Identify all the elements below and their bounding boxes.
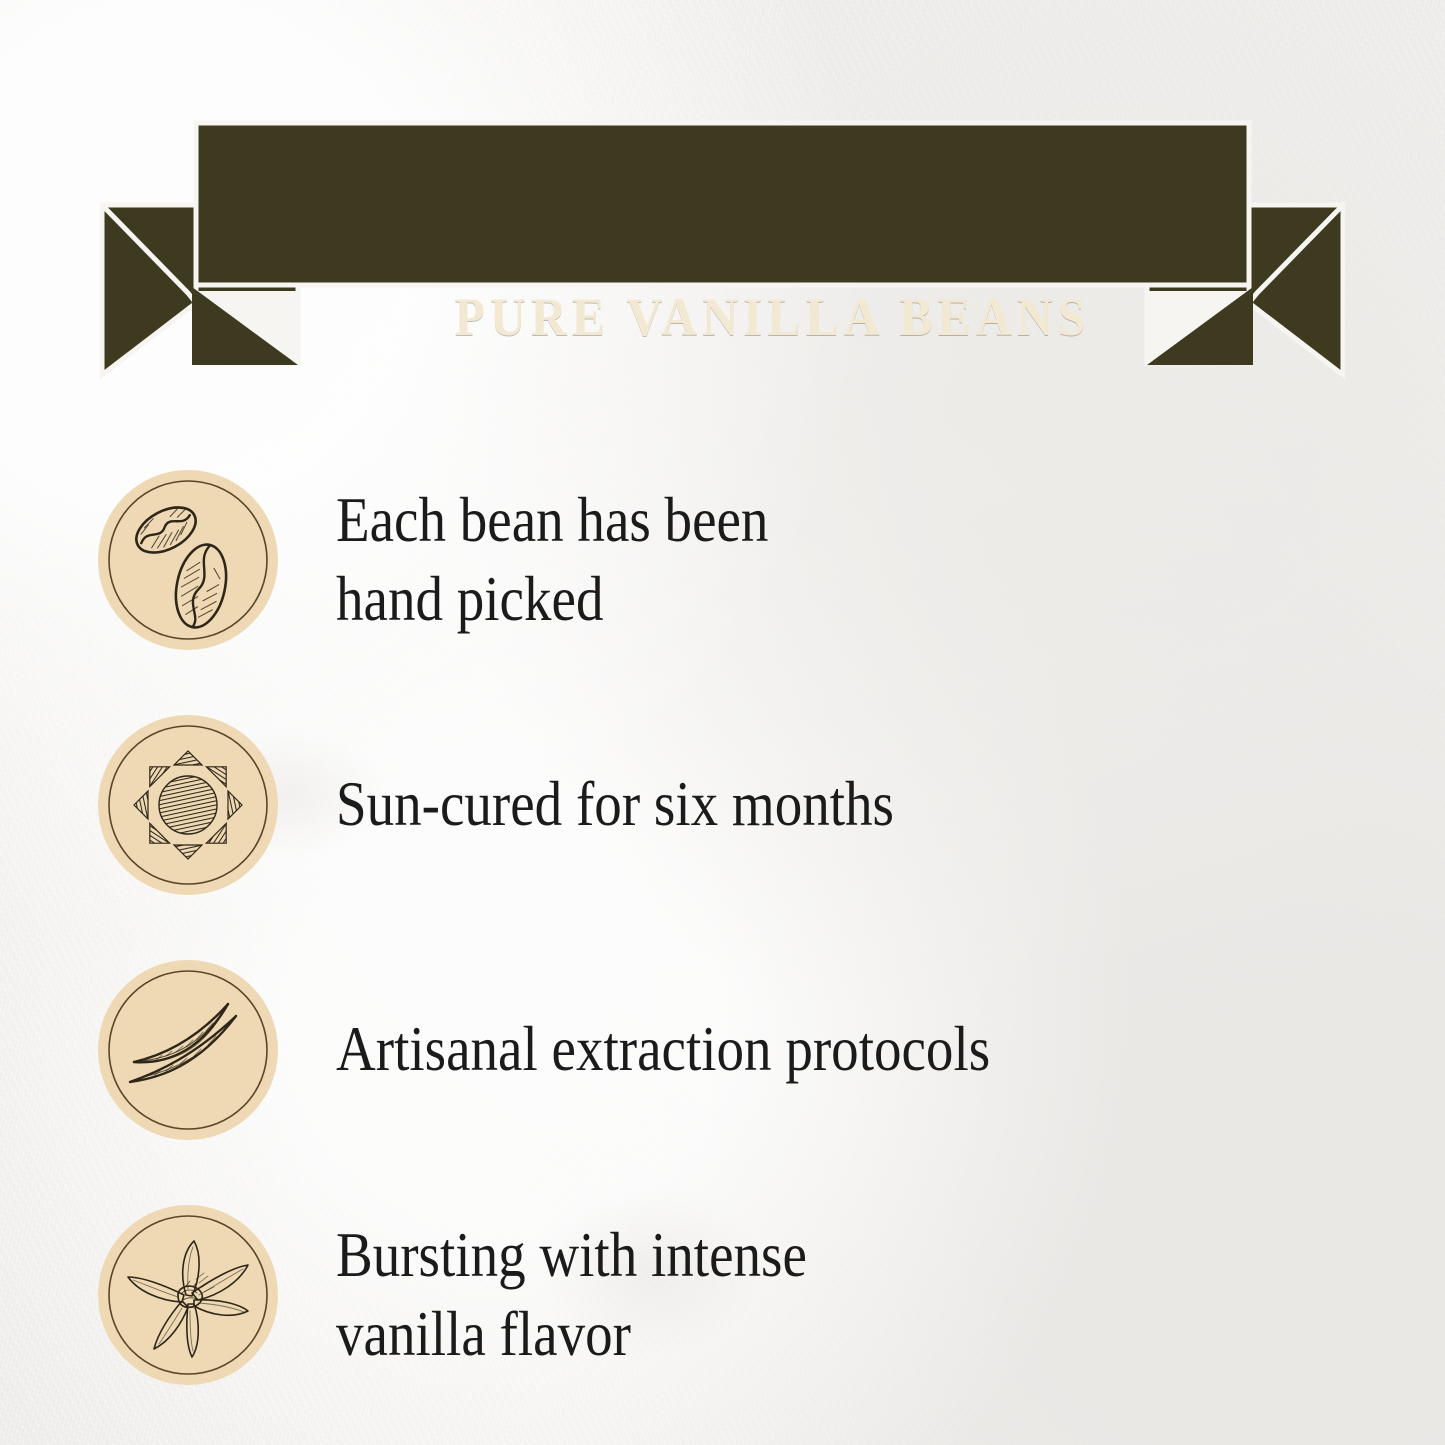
feature-text: Artisanal extraction protocols <box>336 1010 990 1088</box>
vanilla-flower-icon <box>98 1205 278 1385</box>
feature-list: Each bean has been hand picked <box>0 437 1445 1417</box>
product-feature-card: PURE VANILLA BEANS <box>0 0 1445 1445</box>
feature-row: Sun-cured for six months <box>0 682 1445 927</box>
title-banner: PURE VANILLA BEANS <box>100 113 1345 383</box>
banner-left-tail <box>102 205 196 375</box>
page-title: PURE VANILLA BEANS <box>334 236 1211 398</box>
feature-row: Artisanal extraction protocols <box>0 927 1445 1172</box>
feature-text: Sun-cured for six months <box>336 765 894 843</box>
feature-row: Bursting with intense vanilla flavor <box>0 1172 1445 1417</box>
feature-text: Each bean has been hand picked <box>336 481 768 637</box>
banner-right-tail <box>1249 205 1343 375</box>
vanilla-pods-icon <box>98 960 278 1140</box>
coffee-beans-icon <box>98 470 278 650</box>
sun-icon <box>98 715 278 895</box>
feature-row: Each bean has been hand picked <box>0 437 1445 682</box>
feature-text: Bursting with intense vanilla flavor <box>336 1216 807 1372</box>
